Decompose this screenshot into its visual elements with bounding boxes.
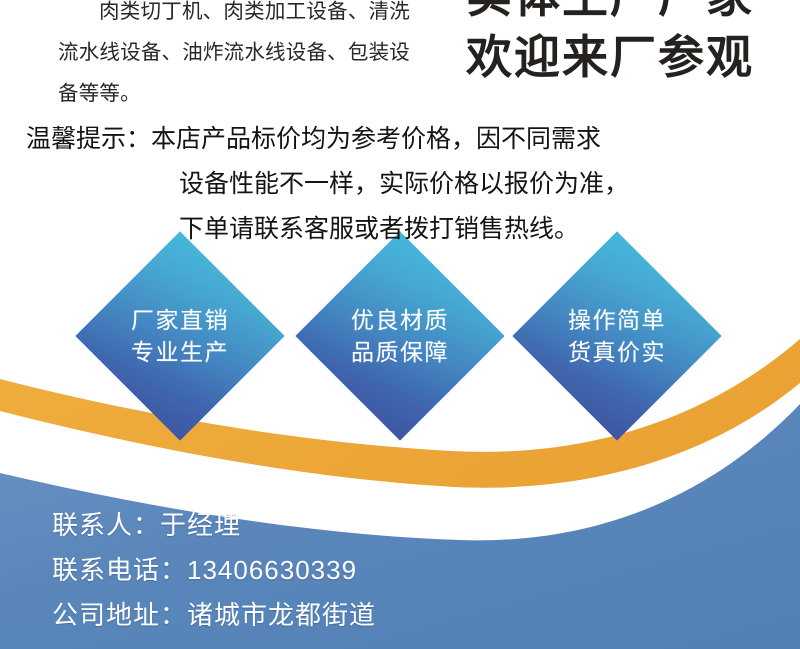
promo-poster: 肉类切丁机、肉类加工设备、清洗流水线设备、油炸流水线设备、包装设备等等。 实体生… [0, 0, 800, 649]
feature-label-1-line-2: 专业生产 [131, 336, 229, 368]
contact-phone[interactable]: 联系电话：13406630339 [52, 548, 376, 593]
feature-label-2-line-2: 品质保障 [351, 336, 449, 368]
feature-diamond-2: 优良材质 品质保障 [295, 231, 505, 441]
contact-person: 联系人：于经理 [52, 503, 376, 548]
feature-label-1: 厂家直销 专业生产 [75, 231, 285, 441]
notice-line-2: 设备性能不一样，实际价格以报价为准， [26, 162, 782, 207]
notice-line-1: 温馨提示：本店产品标价均为参考价格，因不同需求 [26, 117, 782, 162]
headline-line-1: 实体生产厂家 [430, 0, 790, 27]
feature-diamond-3: 操作简单 货真价实 [512, 231, 722, 441]
feature-diamond-1: 厂家直销 专业生产 [75, 231, 285, 441]
feature-label-3-line-2: 货真价实 [568, 336, 666, 368]
notice-line-3: 下单请联系客服或者拨打销售热线。 [26, 207, 782, 252]
feature-label-3-line-1: 操作简单 [568, 304, 666, 336]
headline: 实体生产厂家 欢迎来厂参观 [430, 0, 790, 88]
headline-line-2: 欢迎来厂参观 [430, 27, 790, 88]
contact-address: 公司地址：诸城市龙都街道 [52, 593, 376, 638]
product-description: 肉类切丁机、肉类加工设备、清洗流水线设备、油炸流水线设备、包装设备等等。 [58, 0, 410, 115]
feature-label-2-line-1: 优良材质 [351, 304, 449, 336]
contact-block: 联系人：于经理 联系电话：13406630339 公司地址：诸城市龙都街道 [52, 503, 376, 638]
feature-label-2: 优良材质 品质保障 [295, 231, 505, 441]
feature-label-3: 操作简单 货真价实 [512, 231, 722, 441]
price-notice: 温馨提示：本店产品标价均为参考价格，因不同需求 设备性能不一样，实际价格以报价为… [26, 117, 782, 252]
feature-label-1-line-1: 厂家直销 [131, 304, 229, 336]
